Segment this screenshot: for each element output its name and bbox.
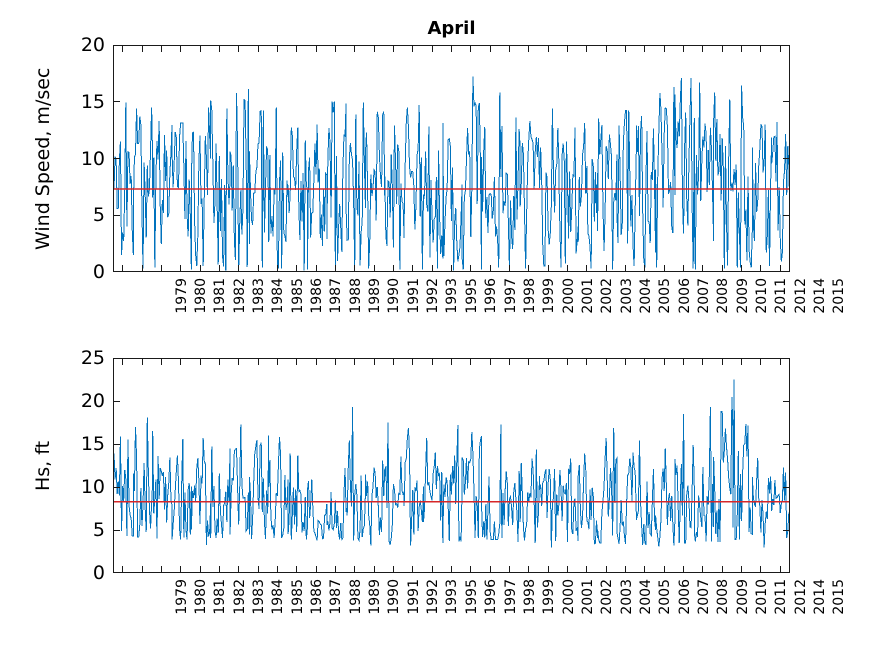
x-tick-mark bbox=[625, 265, 626, 272]
x-tick-mark bbox=[586, 265, 587, 272]
x-tick-label: 1985 bbox=[290, 278, 306, 324]
x-tick-mark bbox=[180, 358, 181, 365]
x-tick-mark bbox=[741, 45, 742, 52]
x-tick-label: 2005 bbox=[657, 579, 673, 625]
x-tick-mark bbox=[335, 358, 336, 365]
x-tick-mark bbox=[238, 265, 239, 272]
x-tick-mark bbox=[528, 566, 529, 573]
x-tick-mark bbox=[258, 265, 259, 272]
x-tick-mark bbox=[683, 265, 684, 272]
x-tick-label: 2002 bbox=[599, 278, 615, 324]
x-tick-label: 1997 bbox=[503, 579, 519, 625]
y-tick-label: 25 bbox=[55, 347, 105, 369]
x-tick-mark bbox=[258, 566, 259, 573]
x-tick-label: 1998 bbox=[522, 278, 538, 324]
x-tick-mark bbox=[606, 358, 607, 365]
x-tick-mark bbox=[644, 265, 645, 272]
x-tick-mark bbox=[432, 265, 433, 272]
hs-series bbox=[114, 359, 790, 573]
y-tick-label: 0 bbox=[55, 261, 105, 283]
x-tick-mark bbox=[258, 45, 259, 52]
x-tick-mark bbox=[451, 45, 452, 52]
x-tick-mark bbox=[702, 45, 703, 52]
x-tick-mark bbox=[412, 566, 413, 573]
x-tick-mark bbox=[277, 265, 278, 272]
x-tick-mark bbox=[316, 45, 317, 52]
x-tick-mark bbox=[238, 566, 239, 573]
x-tick-label: 2001 bbox=[580, 278, 596, 324]
x-tick-mark bbox=[374, 566, 375, 573]
y-axis-label-wind-speed: Wind Speed, m/sec bbox=[32, 67, 54, 249]
y-tick-mark bbox=[783, 158, 790, 159]
x-tick-label: 1988 bbox=[348, 579, 364, 625]
x-tick-mark bbox=[606, 265, 607, 272]
x-tick-mark bbox=[412, 265, 413, 272]
x-tick-mark bbox=[451, 358, 452, 365]
x-tick-mark bbox=[470, 358, 471, 365]
x-tick-label: 1996 bbox=[483, 278, 499, 324]
x-tick-mark bbox=[432, 45, 433, 52]
x-tick-mark bbox=[335, 45, 336, 52]
x-tick-label: 2010 bbox=[754, 278, 770, 324]
x-tick-label: 1987 bbox=[328, 579, 344, 625]
x-tick-mark bbox=[509, 566, 510, 573]
x-tick-mark bbox=[142, 265, 143, 272]
x-tick-label: 2003 bbox=[619, 579, 635, 625]
x-tick-mark bbox=[490, 566, 491, 573]
x-tick-label: 2014 bbox=[812, 278, 828, 324]
x-tick-mark bbox=[509, 265, 510, 272]
y-tick-label: 5 bbox=[55, 204, 105, 226]
x-tick-label: 1999 bbox=[541, 579, 557, 625]
x-tick-label: 1996 bbox=[483, 579, 499, 625]
x-tick-label: 1989 bbox=[367, 579, 383, 625]
x-tick-mark bbox=[393, 358, 394, 365]
x-tick-mark bbox=[741, 566, 742, 573]
x-tick-mark bbox=[586, 566, 587, 573]
y-tick-label: 0 bbox=[55, 562, 105, 584]
x-tick-mark bbox=[219, 358, 220, 365]
x-tick-mark bbox=[548, 265, 549, 272]
x-tick-label: 2012 bbox=[793, 278, 809, 324]
y-tick-mark bbox=[113, 401, 120, 402]
x-tick-label: 1986 bbox=[309, 278, 325, 324]
y-tick-mark bbox=[783, 215, 790, 216]
x-tick-mark bbox=[200, 265, 201, 272]
x-tick-mark bbox=[161, 265, 162, 272]
x-tick-mark bbox=[142, 566, 143, 573]
x-tick-mark bbox=[161, 358, 162, 365]
x-tick-label: 2012 bbox=[793, 579, 809, 625]
x-tick-mark bbox=[335, 265, 336, 272]
x-tick-mark bbox=[760, 566, 761, 573]
x-tick-label: 1982 bbox=[232, 278, 248, 324]
x-tick-label: 1982 bbox=[232, 579, 248, 625]
x-tick-mark bbox=[393, 566, 394, 573]
x-tick-mark bbox=[258, 358, 259, 365]
x-tick-mark bbox=[702, 358, 703, 365]
x-tick-label: 2009 bbox=[735, 579, 751, 625]
x-tick-mark bbox=[509, 358, 510, 365]
page-title: April bbox=[113, 18, 790, 39]
x-tick-mark bbox=[664, 45, 665, 52]
y-tick-mark bbox=[783, 530, 790, 531]
plot-area-hs bbox=[113, 358, 790, 573]
x-tick-mark bbox=[219, 566, 220, 573]
x-tick-mark bbox=[722, 45, 723, 52]
x-tick-label: 2007 bbox=[696, 278, 712, 324]
x-tick-mark bbox=[277, 358, 278, 365]
x-tick-mark bbox=[219, 265, 220, 272]
x-tick-label: 2014 bbox=[812, 579, 828, 625]
y-tick-mark bbox=[113, 444, 120, 445]
x-tick-label: 1995 bbox=[464, 278, 480, 324]
x-tick-mark bbox=[490, 358, 491, 365]
x-tick-mark bbox=[722, 358, 723, 365]
figure-canvas: April Wind Speed, m/sec 05101520 1979198… bbox=[0, 0, 875, 656]
x-tick-mark bbox=[586, 358, 587, 365]
x-tick-label: 1980 bbox=[193, 278, 209, 324]
x-tick-mark bbox=[528, 265, 529, 272]
x-tick-label: 1985 bbox=[290, 579, 306, 625]
x-tick-mark bbox=[760, 45, 761, 52]
x-tick-mark bbox=[296, 45, 297, 52]
x-tick-mark bbox=[122, 45, 123, 52]
x-tick-mark bbox=[354, 566, 355, 573]
x-tick-label: 1983 bbox=[251, 579, 267, 625]
x-tick-label: 2015 bbox=[831, 579, 847, 625]
y-tick-label: 10 bbox=[55, 476, 105, 498]
x-tick-label: 2006 bbox=[677, 278, 693, 324]
x-tick-mark bbox=[664, 566, 665, 573]
x-tick-mark bbox=[760, 358, 761, 365]
x-tick-mark bbox=[625, 45, 626, 52]
y-axis-label-hs: Hs, ft bbox=[32, 440, 54, 490]
x-tick-mark bbox=[412, 358, 413, 365]
x-tick-mark bbox=[374, 358, 375, 365]
y-tick-mark bbox=[113, 158, 120, 159]
x-tick-mark bbox=[683, 566, 684, 573]
x-tick-mark bbox=[470, 45, 471, 52]
x-tick-mark bbox=[683, 358, 684, 365]
x-tick-mark bbox=[741, 358, 742, 365]
y-tick-mark bbox=[113, 530, 120, 531]
x-tick-mark bbox=[567, 566, 568, 573]
x-tick-mark bbox=[722, 265, 723, 272]
x-tick-label: 1981 bbox=[212, 278, 228, 324]
x-tick-label: 1999 bbox=[541, 278, 557, 324]
x-tick-label: 1998 bbox=[522, 579, 538, 625]
x-tick-mark bbox=[528, 45, 529, 52]
x-tick-mark bbox=[316, 566, 317, 573]
y-tick-mark bbox=[783, 444, 790, 445]
x-tick-mark bbox=[606, 566, 607, 573]
x-tick-label: 1997 bbox=[503, 278, 519, 324]
x-tick-label: 1992 bbox=[425, 579, 441, 625]
x-tick-mark bbox=[238, 358, 239, 365]
x-tick-mark bbox=[548, 566, 549, 573]
x-tick-mark bbox=[374, 45, 375, 52]
x-tick-label: 1992 bbox=[425, 278, 441, 324]
y-tick-label: 20 bbox=[55, 34, 105, 56]
y-tick-mark bbox=[113, 487, 120, 488]
x-tick-label: 1979 bbox=[174, 278, 190, 324]
x-tick-mark bbox=[470, 566, 471, 573]
x-tick-mark bbox=[277, 566, 278, 573]
x-tick-mark bbox=[548, 45, 549, 52]
x-tick-mark bbox=[490, 45, 491, 52]
x-tick-label: 2008 bbox=[715, 579, 731, 625]
x-tick-mark bbox=[432, 566, 433, 573]
x-tick-mark bbox=[142, 45, 143, 52]
x-tick-label: 2004 bbox=[638, 579, 654, 625]
x-tick-label: 1990 bbox=[386, 278, 402, 324]
x-tick-mark bbox=[567, 358, 568, 365]
x-tick-mark bbox=[702, 566, 703, 573]
x-tick-mark bbox=[528, 358, 529, 365]
x-tick-label: 2007 bbox=[696, 579, 712, 625]
x-tick-label: 2009 bbox=[735, 278, 751, 324]
x-tick-mark bbox=[625, 358, 626, 365]
x-tick-mark bbox=[219, 45, 220, 52]
x-tick-mark bbox=[780, 566, 781, 573]
x-tick-mark bbox=[200, 358, 201, 365]
x-tick-mark bbox=[664, 358, 665, 365]
y-tick-label: 20 bbox=[55, 390, 105, 412]
x-tick-mark bbox=[625, 566, 626, 573]
x-tick-mark bbox=[277, 45, 278, 52]
x-tick-mark bbox=[451, 566, 452, 573]
x-tick-label: 1981 bbox=[212, 579, 228, 625]
x-tick-label: 1986 bbox=[309, 579, 325, 625]
x-tick-mark bbox=[393, 265, 394, 272]
x-tick-mark bbox=[412, 45, 413, 52]
x-tick-label: 2000 bbox=[561, 579, 577, 625]
x-tick-mark bbox=[354, 358, 355, 365]
x-tick-mark bbox=[470, 265, 471, 272]
x-tick-label: 1991 bbox=[406, 278, 422, 324]
x-tick-label: 2002 bbox=[599, 579, 615, 625]
y-tick-label: 5 bbox=[55, 519, 105, 541]
x-tick-mark bbox=[393, 45, 394, 52]
x-tick-mark bbox=[296, 265, 297, 272]
x-tick-label: 2000 bbox=[561, 278, 577, 324]
x-tick-mark bbox=[335, 566, 336, 573]
y-tick-mark bbox=[783, 401, 790, 402]
x-tick-mark bbox=[180, 45, 181, 52]
x-tick-mark bbox=[180, 265, 181, 272]
x-tick-label: 1995 bbox=[464, 579, 480, 625]
x-tick-mark bbox=[722, 566, 723, 573]
x-tick-label: 2011 bbox=[773, 579, 789, 625]
x-tick-label: 1993 bbox=[444, 278, 460, 324]
x-tick-label: 2008 bbox=[715, 278, 731, 324]
y-tick-mark bbox=[113, 215, 120, 216]
x-tick-label: 1984 bbox=[270, 579, 286, 625]
x-tick-mark bbox=[644, 358, 645, 365]
x-tick-mark bbox=[760, 265, 761, 272]
y-tick-label: 10 bbox=[55, 148, 105, 170]
x-tick-label: 1993 bbox=[444, 579, 460, 625]
x-tick-mark bbox=[238, 45, 239, 52]
x-tick-mark bbox=[548, 358, 549, 365]
x-tick-mark bbox=[664, 265, 665, 272]
y-tick-label: 15 bbox=[55, 91, 105, 113]
y-tick-mark bbox=[783, 101, 790, 102]
x-tick-mark bbox=[200, 566, 201, 573]
x-tick-mark bbox=[780, 265, 781, 272]
x-tick-mark bbox=[161, 566, 162, 573]
x-tick-label: 2004 bbox=[638, 278, 654, 324]
x-tick-mark bbox=[316, 358, 317, 365]
x-tick-mark bbox=[567, 265, 568, 272]
x-tick-label: 2011 bbox=[773, 278, 789, 324]
x-tick-label: 1990 bbox=[386, 579, 402, 625]
x-tick-label: 2015 bbox=[831, 278, 847, 324]
x-tick-mark bbox=[296, 566, 297, 573]
x-tick-label: 2001 bbox=[580, 579, 596, 625]
x-tick-mark bbox=[161, 45, 162, 52]
x-tick-mark bbox=[644, 566, 645, 573]
x-tick-mark bbox=[741, 265, 742, 272]
x-tick-label: 2006 bbox=[677, 579, 693, 625]
y-tick-label: 15 bbox=[55, 433, 105, 455]
x-tick-mark bbox=[432, 358, 433, 365]
x-tick-mark bbox=[780, 45, 781, 52]
x-tick-mark bbox=[586, 45, 587, 52]
x-tick-label: 1983 bbox=[251, 278, 267, 324]
x-tick-mark bbox=[142, 358, 143, 365]
x-tick-label: 1988 bbox=[348, 278, 364, 324]
x-tick-mark bbox=[354, 45, 355, 52]
x-tick-label: 2005 bbox=[657, 278, 673, 324]
x-tick-mark bbox=[122, 265, 123, 272]
x-tick-mark bbox=[683, 45, 684, 52]
x-tick-mark bbox=[354, 265, 355, 272]
x-tick-label: 1991 bbox=[406, 579, 422, 625]
y-tick-mark bbox=[113, 101, 120, 102]
x-tick-mark bbox=[122, 358, 123, 365]
plot-area-wind-speed bbox=[113, 45, 790, 272]
x-tick-mark bbox=[316, 265, 317, 272]
x-tick-mark bbox=[509, 45, 510, 52]
x-tick-label: 1984 bbox=[270, 278, 286, 324]
x-tick-label: 1979 bbox=[174, 579, 190, 625]
x-tick-label: 1987 bbox=[328, 278, 344, 324]
x-tick-label: 1980 bbox=[193, 579, 209, 625]
x-tick-mark bbox=[374, 265, 375, 272]
x-tick-mark bbox=[296, 358, 297, 365]
x-tick-mark bbox=[451, 265, 452, 272]
x-tick-mark bbox=[644, 45, 645, 52]
x-tick-mark bbox=[180, 566, 181, 573]
x-tick-mark bbox=[702, 265, 703, 272]
x-tick-mark bbox=[606, 45, 607, 52]
y-tick-mark bbox=[783, 487, 790, 488]
wind-speed-series bbox=[114, 46, 790, 272]
x-tick-mark bbox=[122, 566, 123, 573]
x-tick-label: 2010 bbox=[754, 579, 770, 625]
x-tick-label: 2003 bbox=[619, 278, 635, 324]
x-tick-label: 1989 bbox=[367, 278, 383, 324]
x-tick-mark bbox=[567, 45, 568, 52]
x-tick-mark bbox=[780, 358, 781, 365]
x-tick-mark bbox=[200, 45, 201, 52]
x-tick-mark bbox=[490, 265, 491, 272]
